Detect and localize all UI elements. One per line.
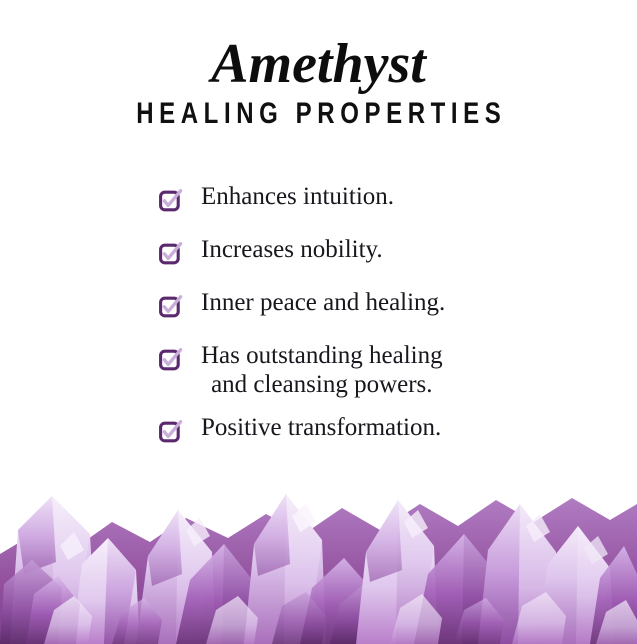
list-item-label: Increases nobility.	[201, 235, 383, 264]
crystal-cluster-illustration	[0, 434, 637, 644]
list-item: Inner peace and healing.	[0, 288, 637, 319]
checkbox-checked-icon	[159, 189, 183, 213]
poster-header: Amethyst HEALING PROPERTIES	[0, 0, 637, 130]
healing-properties-list: Enhances intuition. Increases nobility. …	[0, 182, 637, 466]
list-item-label: Inner peace and healing.	[201, 288, 445, 317]
amethyst-healing-properties-poster: Amethyst HEALING PROPERTIES Enhances int…	[0, 0, 637, 644]
list-item: Increases nobility.	[0, 235, 637, 266]
list-item: Has outstanding healing and cleansing po…	[0, 341, 637, 399]
checkbox-checked-icon	[159, 295, 183, 319]
page-subtitle: HEALING PROPERTIES	[64, 98, 574, 130]
page-title: Amethyst	[0, 34, 637, 94]
list-item-label: Enhances intuition.	[201, 182, 394, 211]
checkbox-checked-icon	[159, 348, 183, 372]
amethyst-crystal-cluster-image	[0, 434, 637, 644]
list-item: Enhances intuition.	[0, 182, 637, 213]
checkbox-checked-icon	[159, 242, 183, 266]
list-item-label: Has outstanding healing and cleansing po…	[201, 341, 443, 399]
